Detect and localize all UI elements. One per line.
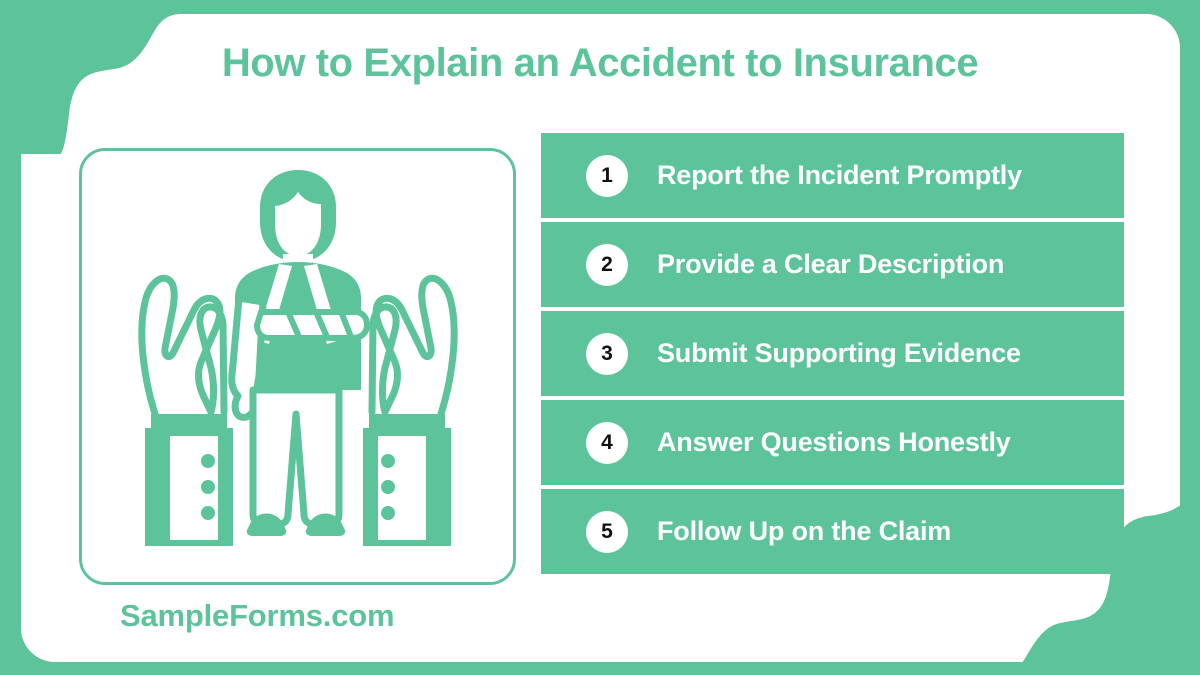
left-cuff xyxy=(145,414,233,546)
step-row[interactable]: 1 Report the Incident Promptly xyxy=(541,133,1124,218)
injured-person-figure xyxy=(231,170,366,536)
step-label: Follow Up on the Claim xyxy=(657,516,951,547)
step-number-badge: 1 xyxy=(586,155,628,197)
steps-list: 1 Report the Incident Promptly 2 Provide… xyxy=(541,133,1124,574)
brand-wordmark: SampleForms.com xyxy=(120,598,394,634)
step-number-badge: 4 xyxy=(586,422,628,464)
right-cuff xyxy=(363,414,451,546)
page-title: How to Explain an Accident to Insurance xyxy=(0,38,1200,88)
infographic-stage: How to Explain an Accident to Insurance xyxy=(0,0,1200,675)
step-number-badge: 3 xyxy=(586,333,628,375)
step-row[interactable]: 3 Submit Supporting Evidence xyxy=(541,311,1124,396)
step-row[interactable]: 5 Follow Up on the Claim xyxy=(541,489,1124,574)
illustration-panel xyxy=(79,148,516,585)
step-row[interactable]: 2 Provide a Clear Description xyxy=(541,222,1124,307)
step-label: Submit Supporting Evidence xyxy=(657,338,1021,369)
step-label: Answer Questions Honestly xyxy=(657,427,1011,458)
step-number-badge: 5 xyxy=(586,511,628,553)
step-row[interactable]: 4 Answer Questions Honestly xyxy=(541,400,1124,485)
step-number-badge: 2 xyxy=(586,244,628,286)
step-label: Report the Incident Promptly xyxy=(657,160,1022,191)
step-label: Provide a Clear Description xyxy=(657,249,1004,280)
injured-person-with-protective-hands-icon xyxy=(93,162,503,572)
